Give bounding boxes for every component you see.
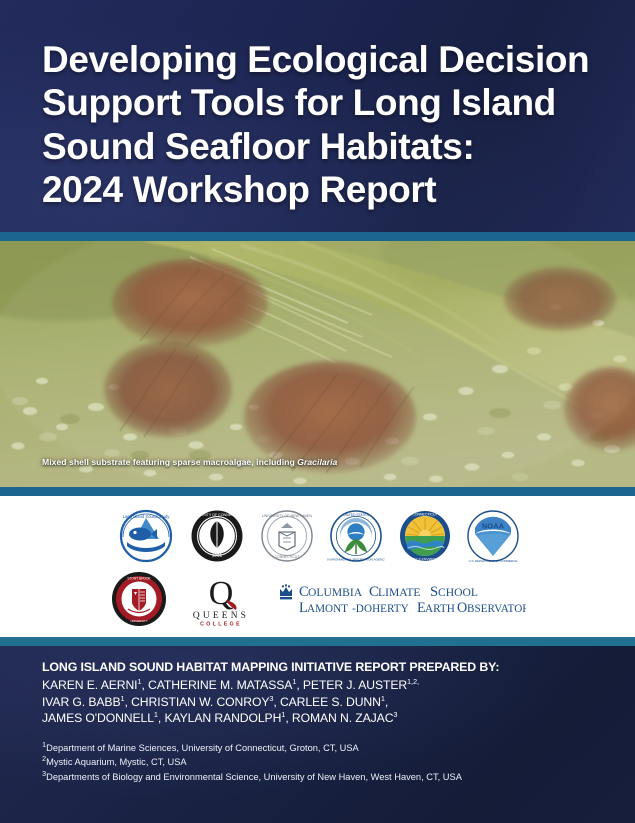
svg-text:ARTH: ARTH — [425, 603, 455, 615]
partner-logos-section: Long Island Sound Study 1881 UNIVERSITY … — [0, 496, 635, 637]
svg-text:ENVIRONMENTAL PROTECTION AGENC: ENVIRONMENTAL PROTECTION AGENCY — [327, 557, 385, 561]
divider-bar-top — [0, 232, 635, 241]
university-of-new-haven-logo: UNIVERSITY OF NEW HAVEN CONNECTICUT — [257, 508, 317, 564]
svg-text:AMONT: AMONT — [307, 603, 348, 615]
svg-text:CONNECTICUT: CONNECTICUT — [412, 512, 438, 516]
uconn-year: 1881 — [211, 552, 222, 557]
title-line-3: Sound Seafloor Habitats: — [42, 125, 595, 168]
svg-text:OLUMBIA: OLUMBIA — [308, 586, 363, 599]
title-line-2: Support Tools for Long Island — [42, 81, 595, 124]
epa-logo: UNITED STATES ENVIRONMENTAL PROTECTION A… — [327, 508, 385, 564]
svg-text:UNIVERSITY OF NEW HAVEN: UNIVERSITY OF NEW HAVEN — [262, 514, 312, 518]
affiliation-1: 1Department of Marine Sciences, Universi… — [42, 741, 605, 755]
svg-text:U.S. DEPARTMENT OF COMMERCE: U.S. DEPARTMENT OF COMMERCE — [468, 559, 517, 563]
svg-text:S: S — [430, 584, 438, 600]
author-line-2: IVAR G. BABB1, CHRISTIAN W. CONROY3, CAR… — [42, 694, 605, 711]
photo-caption: Mixed shell substrate featuring sparse m… — [42, 457, 337, 467]
author-line-3: JAMES O'DONNELL1, KAYLAN RANDOLPH1, ROMA… — [42, 710, 605, 727]
svg-text:Q: Q — [208, 575, 233, 612]
cover-footer: LONG ISLAND SOUND HABITAT MAPPING INITIA… — [0, 646, 635, 823]
svg-text:OHERTY: OHERTY — [364, 603, 409, 615]
photo-caption-species: Gracilaria — [297, 457, 337, 467]
title-line-4: 2024 Workshop Report — [42, 168, 595, 211]
stony-brook-university-logo: STONY BROOK UNIVERSITY — [110, 570, 168, 628]
connecticut-deep-logo: CONNECTICUT ENERGY & ENVIRONMENT — [395, 508, 455, 564]
svg-text:Long Island Sound Study: Long Island Sound Study — [122, 514, 170, 519]
svg-text:UNIVERSITY: UNIVERSITY — [130, 619, 147, 623]
svg-text:LIMATE: LIMATE — [378, 586, 421, 599]
svg-text:CONNECTICUT: CONNECTICUT — [274, 555, 299, 559]
svg-text:BSERVATORY: BSERVATORY — [467, 603, 526, 615]
columbia-climate-school-logo: C OLUMBIA C LIMATE S CHOOL L AMONT -D OH… — [274, 576, 526, 622]
svg-text:COLLEGE: COLLEGE — [200, 621, 242, 627]
affiliations-list: 1Department of Marine Sciences, Universi… — [42, 741, 605, 784]
divider-bar-above-footer — [0, 637, 635, 646]
title-line-1: Developing Ecological Decision — [42, 38, 595, 81]
divider-bar-below-photo — [0, 487, 635, 496]
svg-text:NOAA: NOAA — [481, 521, 504, 530]
partner-logos-row-1: Long Island Sound Study 1881 UNIVERSITY … — [115, 508, 521, 564]
svg-text:O: O — [457, 600, 467, 616]
author-list: KAREN E. AERNI1, CATHERINE M. MATASSA1, … — [42, 677, 605, 727]
author-line-1: KAREN E. AERNI1, CATHERINE M. MATASSA1, … — [42, 677, 605, 694]
noaa-logo: NOAA U.S. DEPARTMENT OF COMMERCE — [465, 508, 521, 564]
svg-text:QUEENS: QUEENS — [192, 611, 248, 621]
cover-photo-illustration — [0, 241, 635, 487]
svg-text:ENERGY & ENVIRONMENT: ENERGY & ENVIRONMENT — [403, 557, 446, 561]
report-cover-page: Developing Ecological Decision Support T… — [0, 0, 635, 823]
svg-text:CHOOL: CHOOL — [438, 586, 478, 599]
cover-header: Developing Ecological Decision Support T… — [0, 0, 635, 232]
partner-logos-row-2: STONY BROOK UNIVERSITY Q QUEENS COLLEGE … — [110, 570, 526, 628]
svg-text:UNIVERSITY OF CONNECTICUT: UNIVERSITY OF CONNECTICUT — [189, 513, 244, 517]
long-island-sound-study-logo: Long Island Sound Study — [115, 508, 177, 564]
queens-college-logo: Q QUEENS COLLEGE — [180, 570, 262, 628]
page-title: Developing Ecological Decision Support T… — [42, 38, 595, 212]
svg-text:UNITED STATES: UNITED STATES — [343, 513, 369, 517]
affiliation-2: 2Mystic Aquarium, Mystic, CT, USA — [42, 755, 605, 769]
prepared-by-heading: LONG ISLAND SOUND HABITAT MAPPING INITIA… — [42, 660, 605, 674]
photo-caption-text: Mixed shell substrate featuring sparse m… — [42, 457, 297, 467]
university-of-connecticut-logo: 1881 UNIVERSITY OF CONNECTICUT — [187, 508, 247, 564]
cover-photo: Mixed shell substrate featuring sparse m… — [0, 241, 635, 487]
svg-text:-D: -D — [352, 603, 364, 615]
columbia-crown-icon — [280, 584, 292, 599]
affiliation-3: 3Departments of Biology and Environmenta… — [42, 770, 605, 784]
svg-text:STONY BROOK: STONY BROOK — [127, 576, 151, 580]
